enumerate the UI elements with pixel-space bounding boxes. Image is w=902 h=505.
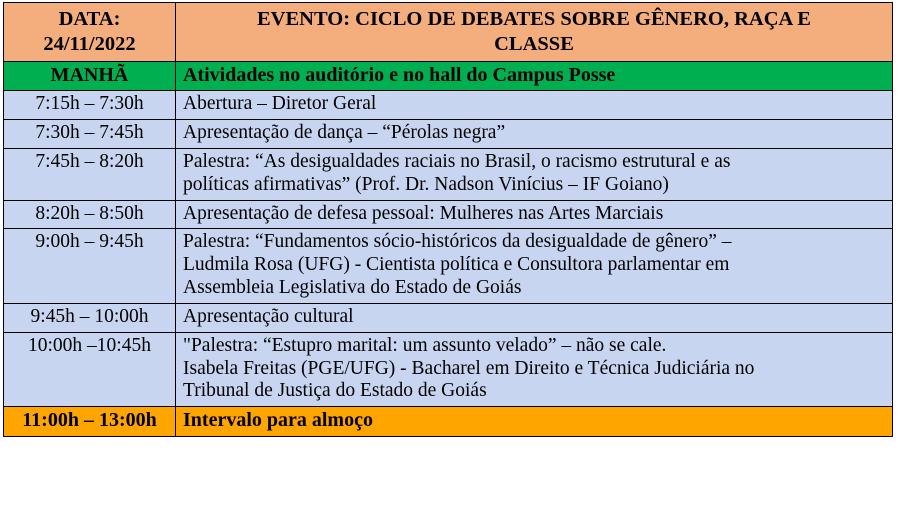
row-event: Apresentação cultural xyxy=(176,303,893,332)
row-event: Apresentação de dança – “Pérolas negra” xyxy=(176,120,893,149)
row-time: 7:30h – 7:45h xyxy=(4,120,176,149)
table-row: 7:30h – 7:45h Apresentação de dança – “P… xyxy=(4,120,893,149)
row-event-line: Isabela Freitas (PGE/UFG) - Bacharel em … xyxy=(183,358,888,381)
row-event-line: Apresentação cultural xyxy=(183,306,888,329)
row-event-line: Palestra: “As desigualdades raciais no B… xyxy=(183,151,888,174)
table-row: 10:00h –10:45h "Palestra: “Estupro marit… xyxy=(4,332,893,406)
row-event-line: Apresentação de defesa pessoal: Mulheres… xyxy=(183,203,888,226)
break-time: 11:00h – 13:00h xyxy=(4,407,176,436)
header-date-cell: DATA: 24/11/2022 xyxy=(4,3,176,62)
row-time: 9:45h – 10:00h xyxy=(4,303,176,332)
row-event-line: Ludmila Rosa (UFG) - Cientista política … xyxy=(183,254,888,277)
header-date-value: 24/11/2022 xyxy=(8,32,171,57)
header-event-line-1: EVENTO: CICLO DE DEBATES SOBRE GÊNERO, R… xyxy=(186,7,882,32)
break-description: Intervalo para almoço xyxy=(176,407,893,436)
table-row: 7:15h – 7:30h Abertura – Diretor Geral xyxy=(4,91,893,120)
table-header-row: DATA: 24/11/2022 EVENTO: CICLO DE DEBATE… xyxy=(4,3,893,62)
row-time: 7:15h – 7:30h xyxy=(4,91,176,120)
row-event-line: Assembleia Legislativa do Estado de Goiá… xyxy=(183,277,888,300)
header-event-cell: EVENTO: CICLO DE DEBATES SOBRE GÊNERO, R… xyxy=(176,3,893,62)
lunch-break-row: 11:00h – 13:00h Intervalo para almoço xyxy=(4,407,893,436)
row-event: Apresentação de defesa pessoal: Mulheres… xyxy=(176,200,893,229)
row-event-line: "Palestra: “Estupro marital: um assunto … xyxy=(183,335,888,358)
section-row-morning: MANHÃ Atividades no auditório e no hall … xyxy=(4,62,893,91)
table-row: 7:45h – 8:20h Palestra: “As desigualdade… xyxy=(4,149,893,201)
row-event: Abertura – Diretor Geral xyxy=(176,91,893,120)
section-period-label: MANHÃ xyxy=(4,62,176,91)
schedule-container: DATA: 24/11/2022 EVENTO: CICLO DE DEBATE… xyxy=(0,0,902,505)
row-time: 9:00h – 9:45h xyxy=(4,229,176,303)
row-event: "Palestra: “Estupro marital: um assunto … xyxy=(176,332,893,406)
row-event-line: Tribunal de Justiça do Estado de Goiás xyxy=(183,380,888,403)
row-time: 10:00h –10:45h xyxy=(4,332,176,406)
row-event-line: políticas afirmativas” (Prof. Dr. Nadson… xyxy=(183,174,888,197)
row-time: 7:45h – 8:20h xyxy=(4,149,176,201)
row-event-line: Apresentação de dança – “Pérolas negra” xyxy=(183,122,888,145)
schedule-body: DATA: 24/11/2022 EVENTO: CICLO DE DEBATE… xyxy=(4,3,893,437)
table-row: 8:20h – 8:50h Apresentação de defesa pes… xyxy=(4,200,893,229)
table-row: 9:45h – 10:00h Apresentação cultural xyxy=(4,303,893,332)
table-row: 9:00h – 9:45h Palestra: “Fundamentos sóc… xyxy=(4,229,893,303)
row-event: Palestra: “Fundamentos sócio-históricos … xyxy=(176,229,893,303)
section-description: Atividades no auditório e no hall do Cam… xyxy=(176,62,893,91)
row-event-line: Palestra: “Fundamentos sócio-históricos … xyxy=(183,231,888,254)
row-time: 8:20h – 8:50h xyxy=(4,200,176,229)
row-event-line: Abertura – Diretor Geral xyxy=(183,93,888,116)
row-event: Palestra: “As desigualdades raciais no B… xyxy=(176,149,893,201)
header-date-label: DATA: xyxy=(8,7,171,32)
event-schedule-table: DATA: 24/11/2022 EVENTO: CICLO DE DEBATE… xyxy=(3,2,893,437)
header-event-line-2: CLASSE xyxy=(186,32,882,57)
